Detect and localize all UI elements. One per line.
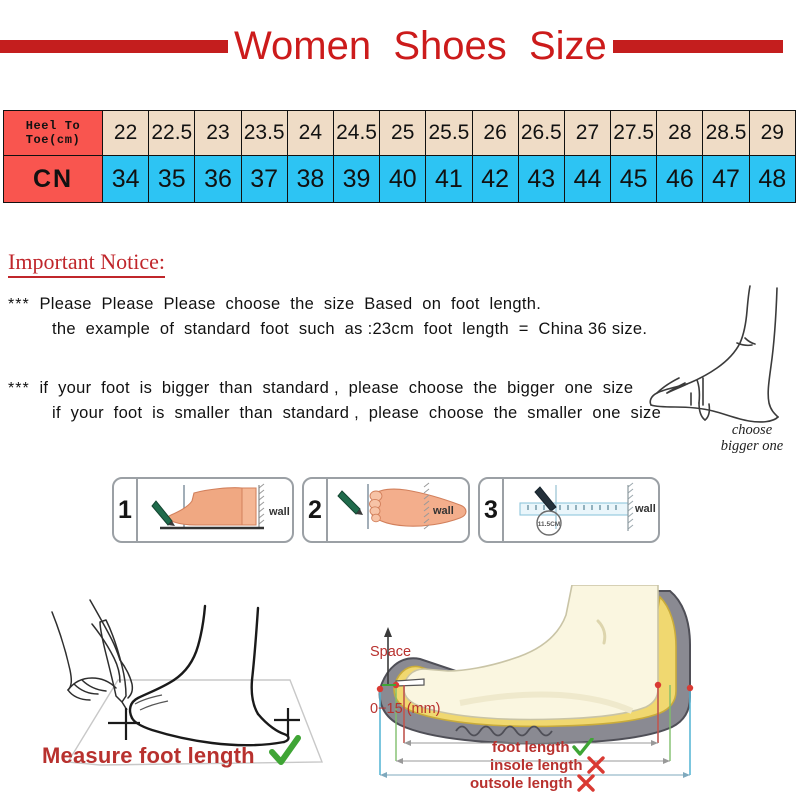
foot-top-view-icon: wall: [328, 479, 468, 541]
measure-foot-length-caption: Measure foot length: [42, 743, 255, 769]
cell-cn: 40: [380, 156, 426, 203]
choose-bigger-one-caption: choose bigger one: [697, 422, 800, 454]
wall-label-3: wall: [634, 503, 656, 515]
cell-cm: 23.5: [241, 111, 287, 156]
size-chart-table: Heel To Toe(cm) 22 22.5 23 23.5 24 24.5 …: [3, 110, 796, 203]
cross-icon: [586, 756, 606, 774]
legend-label: foot length: [492, 739, 569, 756]
title-bar-left: [0, 40, 228, 53]
legend-row-outsole-length: outsole length: [470, 774, 606, 792]
notice-stars: ***: [8, 380, 30, 397]
cell-cm: 29: [749, 111, 795, 156]
cell-cm: 22: [103, 111, 149, 156]
important-notice-heading: Important Notice:: [8, 250, 165, 278]
title-bar-right: [613, 40, 783, 53]
cell-cn: 39: [333, 156, 379, 203]
step-number: 2: [304, 479, 328, 541]
legend-row-insole-length: insole length: [470, 756, 606, 774]
notice-stars: ***: [8, 296, 30, 313]
page-title-row: Women Shoes Size: [0, 20, 800, 72]
cell-cn: 41: [426, 156, 472, 203]
step-1-illustration: wall: [138, 479, 292, 541]
cell-cn: 34: [103, 156, 149, 203]
length-legend: foot length insole length outsole length: [470, 738, 606, 792]
step-panel-3: 3 11.5CM: [478, 477, 660, 543]
measure-steps-row: 1 wall 2: [112, 477, 660, 543]
cell-cn: 45: [611, 156, 657, 203]
check-icon: [572, 738, 594, 756]
cross-icon: [576, 774, 596, 792]
cell-cn: 43: [518, 156, 564, 203]
magnifier-reading: 11.5CM: [538, 521, 560, 528]
cell-cn: 35: [149, 156, 195, 203]
cell-cn: 44: [564, 156, 610, 203]
wall-label-1: wall: [268, 506, 290, 518]
cell-cm: 28: [657, 111, 703, 156]
step-2-illustration: wall: [328, 479, 468, 541]
space-label: Space 0−15 (mm): [370, 605, 441, 738]
space-label-line-1: Space: [370, 643, 441, 662]
notice-block-1: *** Please Please Please choose the size…: [8, 292, 698, 342]
legend-label: outsole length: [470, 775, 573, 792]
row-label-heel-to-toe: Heel To Toe(cm): [4, 111, 103, 156]
cell-cm: 24: [287, 111, 333, 156]
cell-cn: 36: [195, 156, 241, 203]
cell-cn: 37: [241, 156, 287, 203]
cell-cm: 27: [564, 111, 610, 156]
cell-cm: 25.5: [426, 111, 472, 156]
cell-cm: 28.5: [703, 111, 749, 156]
legend-label: insole length: [490, 757, 583, 774]
step-panel-2: 2 wall: [302, 477, 470, 543]
space-label-line-2: 0−15 (mm): [370, 700, 441, 719]
caption-line-2: bigger one: [697, 438, 800, 454]
legend-row-foot-length: foot length: [470, 738, 606, 756]
table-row-cn: CN 34 35 36 37 38 39 40 41 42 43 44 45 4…: [4, 156, 796, 203]
cell-cn: 48: [749, 156, 795, 203]
notice-line: the example of standard foot such as :23…: [8, 317, 698, 342]
step-panel-1: 1 wall: [112, 477, 294, 543]
measure-check-icon: [268, 735, 302, 774]
cell-cn: 46: [657, 156, 703, 203]
caption-line-1: choose: [697, 422, 800, 438]
ruler-measure-icon: 11.5CM wall: [504, 479, 658, 541]
cell-cn: 47: [703, 156, 749, 203]
page-title: Women Shoes Size: [228, 25, 613, 67]
row-label-cn: CN: [4, 156, 103, 203]
table-row-heel-to-toe: Heel To Toe(cm) 22 22.5 23 23.5 24 24.5 …: [4, 111, 796, 156]
cell-cm: 27.5: [611, 111, 657, 156]
cell-cm: 26.5: [518, 111, 564, 156]
step-number: 3: [480, 479, 504, 541]
cell-cm: 25: [380, 111, 426, 156]
notice-line: *** Please Please Please choose the size…: [8, 292, 698, 317]
notice-line: if your foot is smaller than standard , …: [8, 401, 698, 426]
cell-cm: 24.5: [333, 111, 379, 156]
cell-cm: 22.5: [149, 111, 195, 156]
notice-text: Please Please Please choose the size Bas…: [39, 295, 541, 313]
wall-label-2: wall: [432, 505, 454, 517]
step-number: 1: [114, 479, 138, 541]
foot-against-wall-icon: wall: [138, 479, 292, 541]
step-3-illustration: 11.5CM wall: [504, 479, 658, 541]
notice-text: if your foot is bigger than standard , p…: [39, 379, 633, 397]
cell-cn: 38: [287, 156, 333, 203]
cell-cm: 23: [195, 111, 241, 156]
notice-line: *** if your foot is bigger than standard…: [8, 376, 698, 401]
cell-cn: 42: [472, 156, 518, 203]
notice-block-2: *** if your foot is bigger than standard…: [8, 376, 698, 426]
cell-cm: 26: [472, 111, 518, 156]
